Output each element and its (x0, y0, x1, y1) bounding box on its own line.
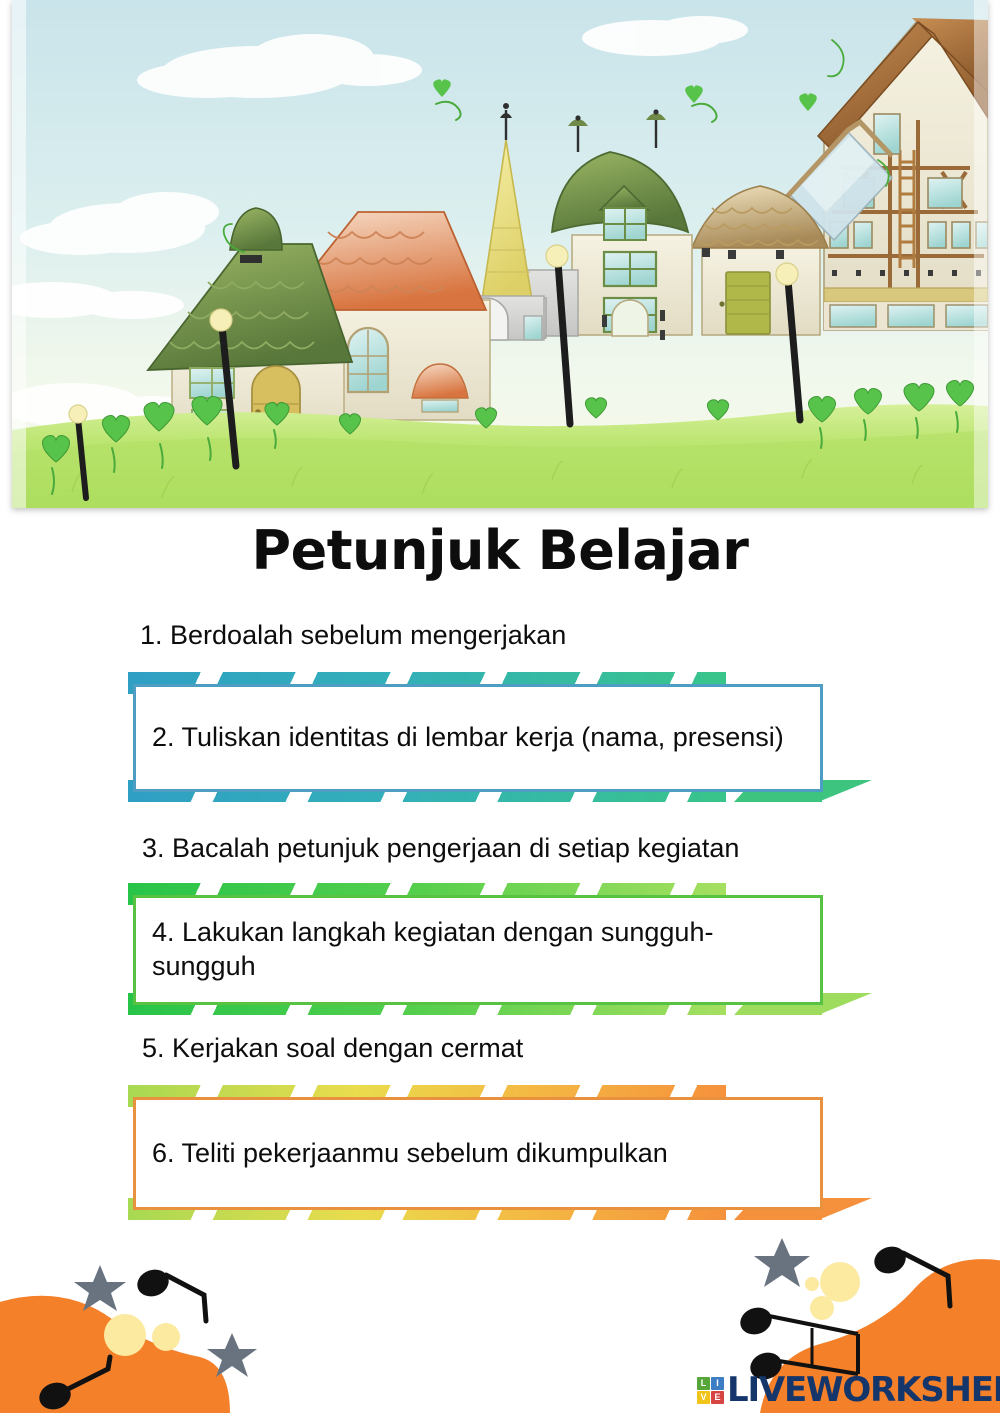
instruction-group-4: 4. Lakukan langkah kegiatan dengan sungg… (128, 883, 872, 1015)
instruction-item-2: 2. Tuliskan identitas di lembar kerja (n… (136, 721, 800, 755)
band-arrow-2 (818, 780, 872, 802)
instruction-item-5: 5. Kerjakan soal dengan cermat (142, 1033, 523, 1064)
instruction-group-6: 6. Teliti pekerjaanmu sebelum dikumpulka… (128, 1085, 872, 1220)
instruction-item-3: 3. Bacalah petunjuk pengerjaan di setiap… (142, 833, 739, 864)
logo-block-v: V (697, 1391, 710, 1404)
yellow-dot-right-3 (810, 1296, 834, 1320)
instruction-item-4: 4. Lakukan langkah kegiatan dengan sungg… (136, 916, 808, 984)
header-illustration (12, 0, 988, 508)
logo-block-l: L (697, 1377, 710, 1390)
village-illustration (12, 0, 988, 508)
band-arrow-6 (818, 1198, 872, 1220)
page-title: Petunjuk Belajar (0, 519, 1000, 582)
instruction-item-1: 1. Berdoalah sebelum mengerjakan (140, 620, 566, 651)
yellow-dot-left-2 (152, 1323, 180, 1351)
yellow-dot-right-1 (820, 1262, 860, 1302)
music-note-left-1 (134, 1265, 206, 1321)
instruction-group-2: 2. Tuliskan identitas di lembar kerja (n… (128, 672, 872, 802)
instruction-box-4: 4. Lakukan langkah kegiatan dengan sungg… (133, 895, 823, 1005)
yellow-dot-left-1 (104, 1314, 146, 1356)
star-right-1 (754, 1238, 810, 1287)
liveworksheets-wordmark: LIVEWORKSHEETS (727, 1370, 1000, 1410)
orange-blob-left (0, 1296, 230, 1413)
decoration-bottom-left (0, 1245, 300, 1413)
instruction-item-6: 6. Teliti pekerjaanmu sebelum dikumpulka… (136, 1137, 684, 1171)
logo-block-i: I (711, 1377, 724, 1390)
instruction-box-6: 6. Teliti pekerjaanmu sebelum dikumpulka… (133, 1097, 823, 1210)
yellow-dot-right-2 (805, 1277, 819, 1291)
band-arrow-4 (818, 993, 872, 1015)
logo-block-e: E (711, 1391, 724, 1404)
liveworksheets-letter-blocks: L I V E (697, 1377, 724, 1404)
liveworksheets-logo[interactable]: L I V E LIVEWORKSHEETS (697, 1369, 1000, 1411)
instruction-box-2: 2. Tuliskan identitas di lembar kerja (n… (133, 684, 823, 792)
